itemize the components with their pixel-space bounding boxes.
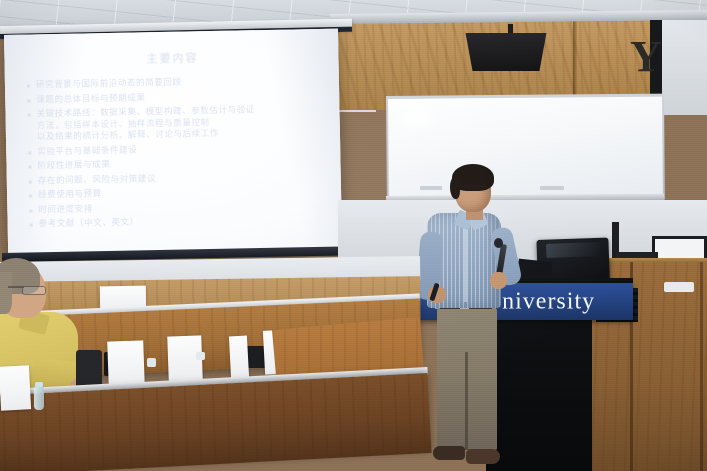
- yale-y-logo: Y: [630, 36, 664, 78]
- ceiling-projector-icon: [462, 33, 550, 71]
- photograph-scene: Y 主要内容 研究背景与国际前沿动态的简要回顾 课题的总体目标与预期成果 关键技…: [0, 0, 707, 471]
- presenter-brow: [459, 186, 487, 193]
- podium-body: [486, 300, 592, 471]
- name-card-name: [231, 367, 249, 368]
- name-card-affiliation: [100, 289, 146, 290]
- back-wall-right: [660, 20, 707, 115]
- name-card-name: [1, 398, 31, 400]
- name-card-name: [108, 374, 144, 375]
- name-card: [229, 336, 249, 379]
- water-bottle: [34, 386, 44, 410]
- slide-bullet: 参考文献（中文、英文）: [30, 214, 322, 231]
- whiteboard-glare: [396, 104, 440, 134]
- name-card-affiliation: [0, 371, 29, 373]
- name-card-affiliation: [107, 347, 143, 348]
- slide-bullet: 关键技术路线：数据采集、模型构建、参数估计与验证 方法，包括样本设计、抽样流程与…: [27, 104, 320, 144]
- whiteboard-eraser: [420, 186, 442, 190]
- attendee-hair-back: [0, 272, 12, 314]
- paper-cup: [147, 358, 156, 367]
- white-equipment-box: [664, 282, 694, 292]
- paper-cup: [196, 352, 205, 360]
- slide-title: 主要内容: [26, 47, 318, 69]
- projection-screen: 主要内容 研究背景与国际前沿动态的简要回顾 课题的总体目标与预期成果 关键技术路…: [4, 29, 342, 261]
- microphone-head: [494, 238, 503, 248]
- slide-content: 主要内容 研究背景与国际前沿动态的简要回顾 课题的总体目标与预期成果 关键技术路…: [4, 29, 342, 261]
- presenter-shirt-placket: [464, 224, 467, 302]
- name-card-affiliation: [167, 342, 201, 343]
- slide-bullet-list: 研究背景与国际前沿动态的简要回顾 课题的总体目标与预期成果 关键技术路线：数据采…: [27, 75, 322, 231]
- presenter-shoe-left: [433, 446, 465, 460]
- eyeglasses-icon: [22, 286, 46, 295]
- whiteboard-marker: [540, 186, 564, 190]
- presenter-trouser-crease: [465, 352, 468, 450]
- name-card: [0, 365, 31, 411]
- presenter-hand-right: [490, 272, 507, 289]
- water-bottle-cap: [35, 382, 43, 387]
- name-card: [107, 340, 145, 387]
- name-card-name: [168, 368, 202, 369]
- cabinet-seam: [700, 262, 703, 471]
- podium-monitor-glare: [546, 242, 600, 258]
- presenter-shoe-right: [466, 449, 500, 464]
